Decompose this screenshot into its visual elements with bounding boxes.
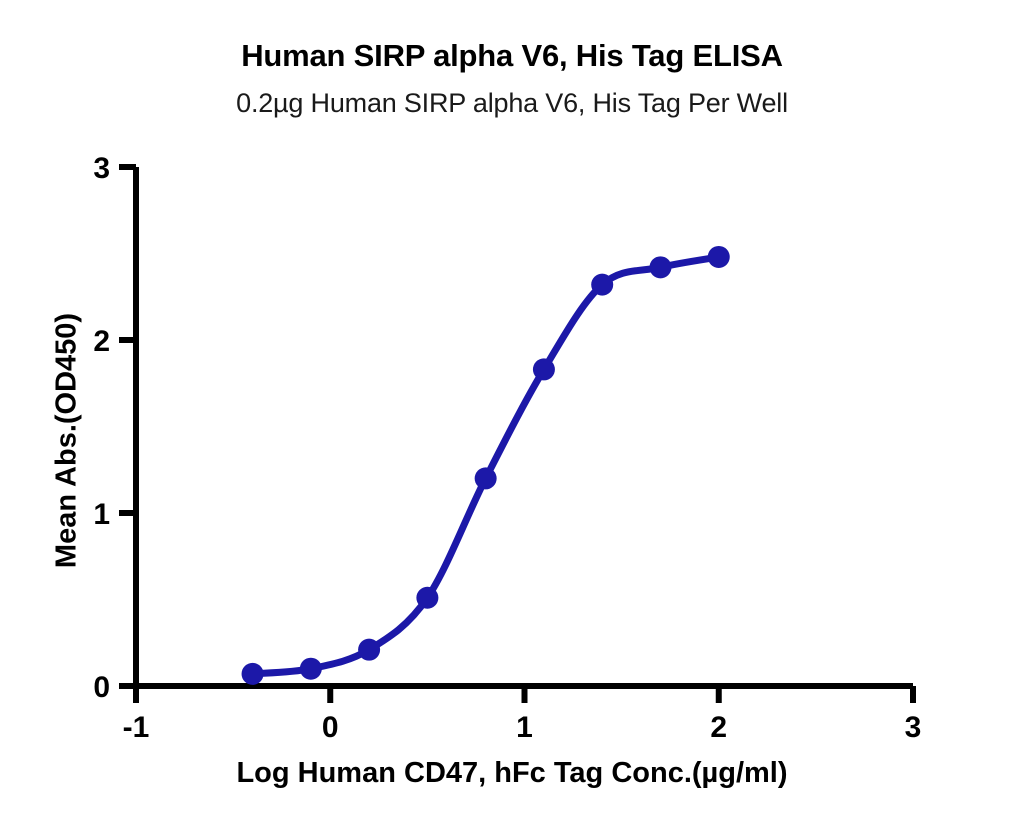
- data-point-marker: [533, 358, 555, 380]
- x-tick-label: 3: [905, 711, 922, 744]
- data-point-marker: [591, 274, 613, 296]
- y-tick-label: 3: [93, 152, 110, 185]
- axis-ticks: [119, 167, 913, 703]
- data-point-marker: [416, 587, 438, 609]
- x-tick-label: 0: [322, 711, 339, 744]
- y-axis-label: Mean Abs.(OD450): [51, 231, 84, 651]
- chart-figure: Human SIRP alpha V6, His Tag ELISA 0.2µg…: [0, 0, 1024, 838]
- axes: [136, 167, 913, 686]
- data-curve: [253, 257, 719, 674]
- data-point-marker: [649, 256, 671, 278]
- y-tick-label: 2: [93, 325, 110, 358]
- x-tick-label: -1: [123, 711, 150, 744]
- data-point-marker: [358, 639, 380, 661]
- data-point-marker: [475, 467, 497, 489]
- x-tick-label: 2: [710, 711, 727, 744]
- x-tick-label: 1: [516, 711, 533, 744]
- plot-area: -101230123: [0, 0, 1024, 838]
- axis-tick-labels: -101230123: [93, 152, 921, 744]
- series-line: [253, 257, 719, 674]
- y-tick-label: 1: [93, 498, 110, 531]
- data-point-marker: [300, 658, 322, 680]
- data-point-marker: [242, 663, 264, 685]
- y-tick-label: 0: [93, 671, 110, 704]
- x-axis-label: Log Human CD47, hFc Tag Conc.(µg/ml): [0, 757, 1024, 790]
- data-points: [242, 246, 730, 685]
- data-point-marker: [708, 246, 730, 268]
